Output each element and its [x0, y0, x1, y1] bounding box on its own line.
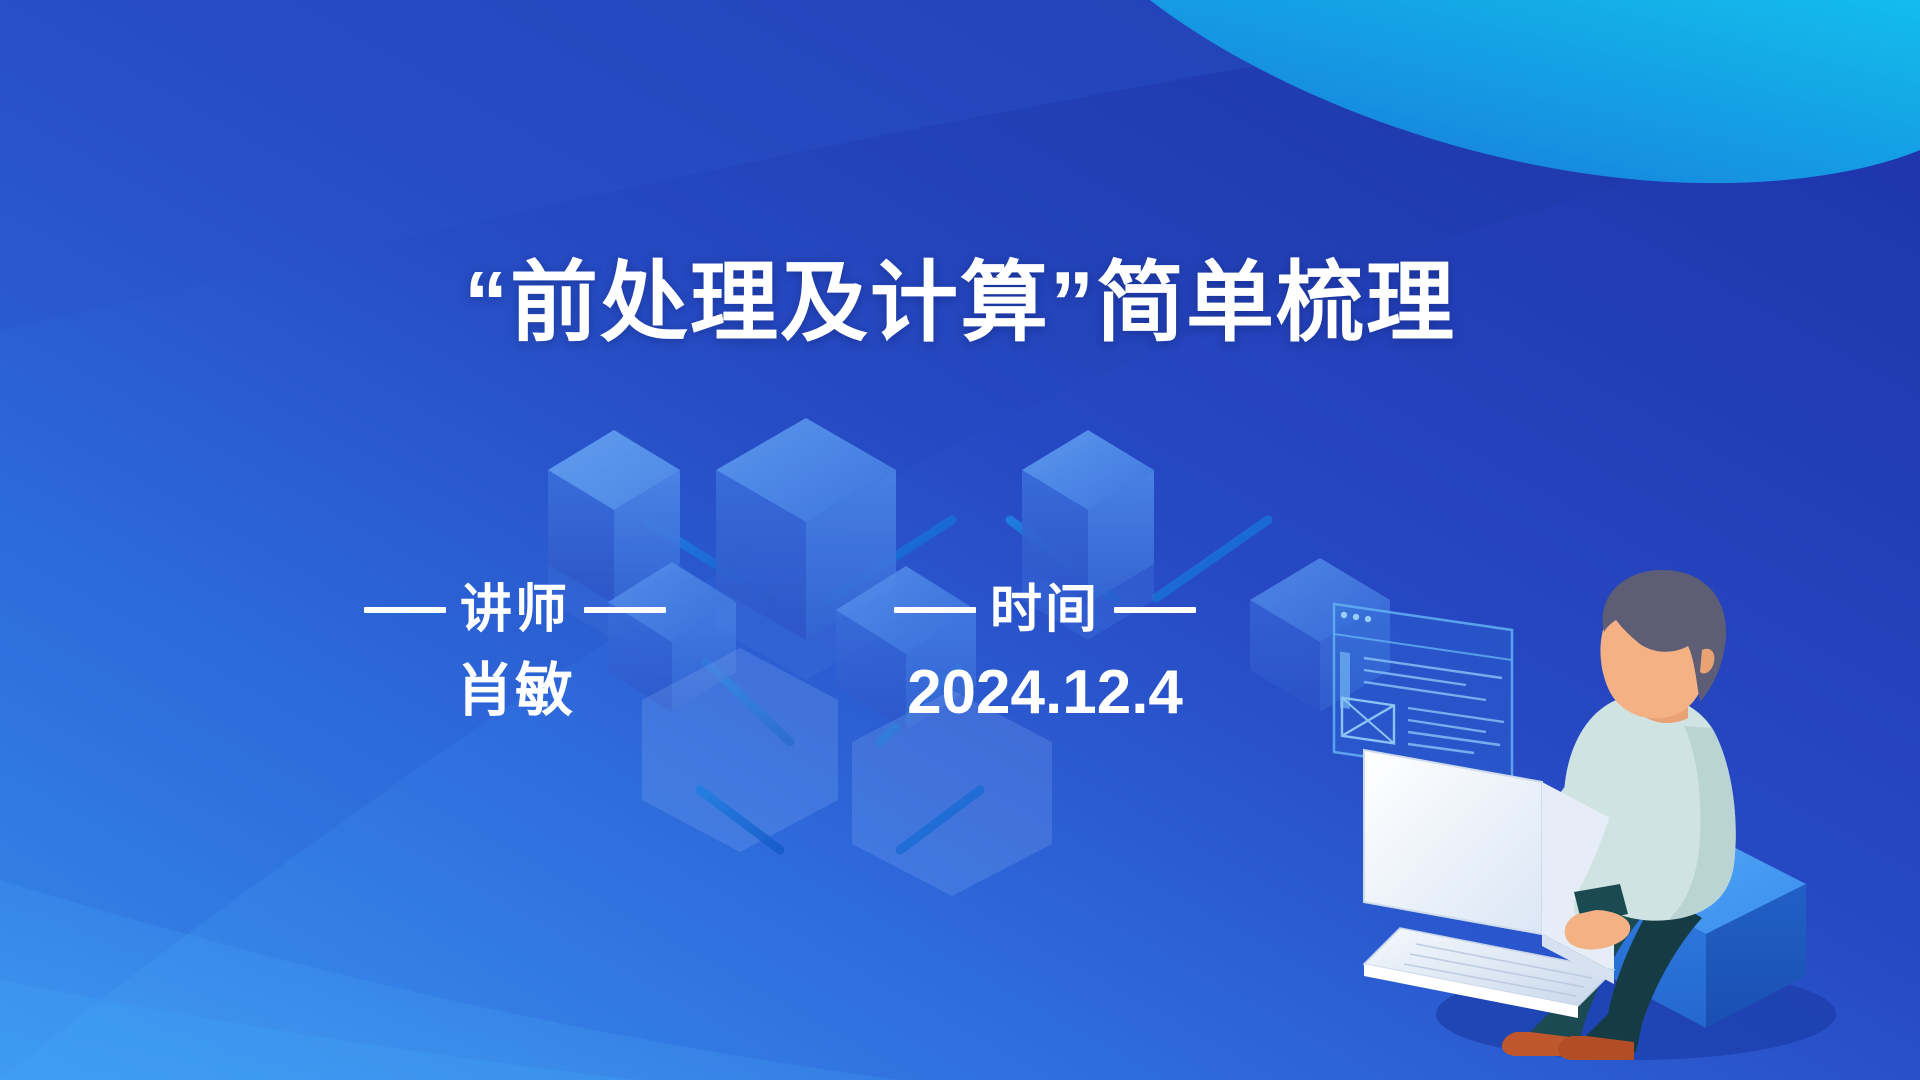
time-label: 时间 — [990, 584, 1100, 636]
floating-ui-panel — [1334, 604, 1512, 778]
event-date: 2024.12.4 — [830, 662, 1260, 724]
info-block-speaker: 讲师 肖敏 — [300, 584, 730, 720]
info-row: 讲师 肖敏 时间 2024.12.4 — [300, 584, 1260, 724]
rule-left-icon — [364, 607, 446, 613]
slide-canvas: “前处理及计算”简单梳理 讲师 肖敏 时间 2024.12.4 — [0, 0, 1920, 1080]
speaker-name: 肖敏 — [300, 662, 730, 720]
speaker-heading: 讲师 — [300, 584, 730, 636]
rule-right-icon — [584, 607, 666, 613]
time-heading: 时间 — [830, 584, 1260, 636]
speaker-label: 讲师 — [460, 584, 570, 636]
person-head — [1600, 570, 1726, 723]
slide-title: “前处理及计算”简单梳理 — [0, 255, 1920, 350]
rule-right-icon — [1114, 607, 1196, 613]
info-block-time: 时间 2024.12.4 — [830, 584, 1260, 724]
rule-left-icon — [894, 607, 976, 613]
person-with-laptop-illustration — [1316, 562, 1920, 1080]
